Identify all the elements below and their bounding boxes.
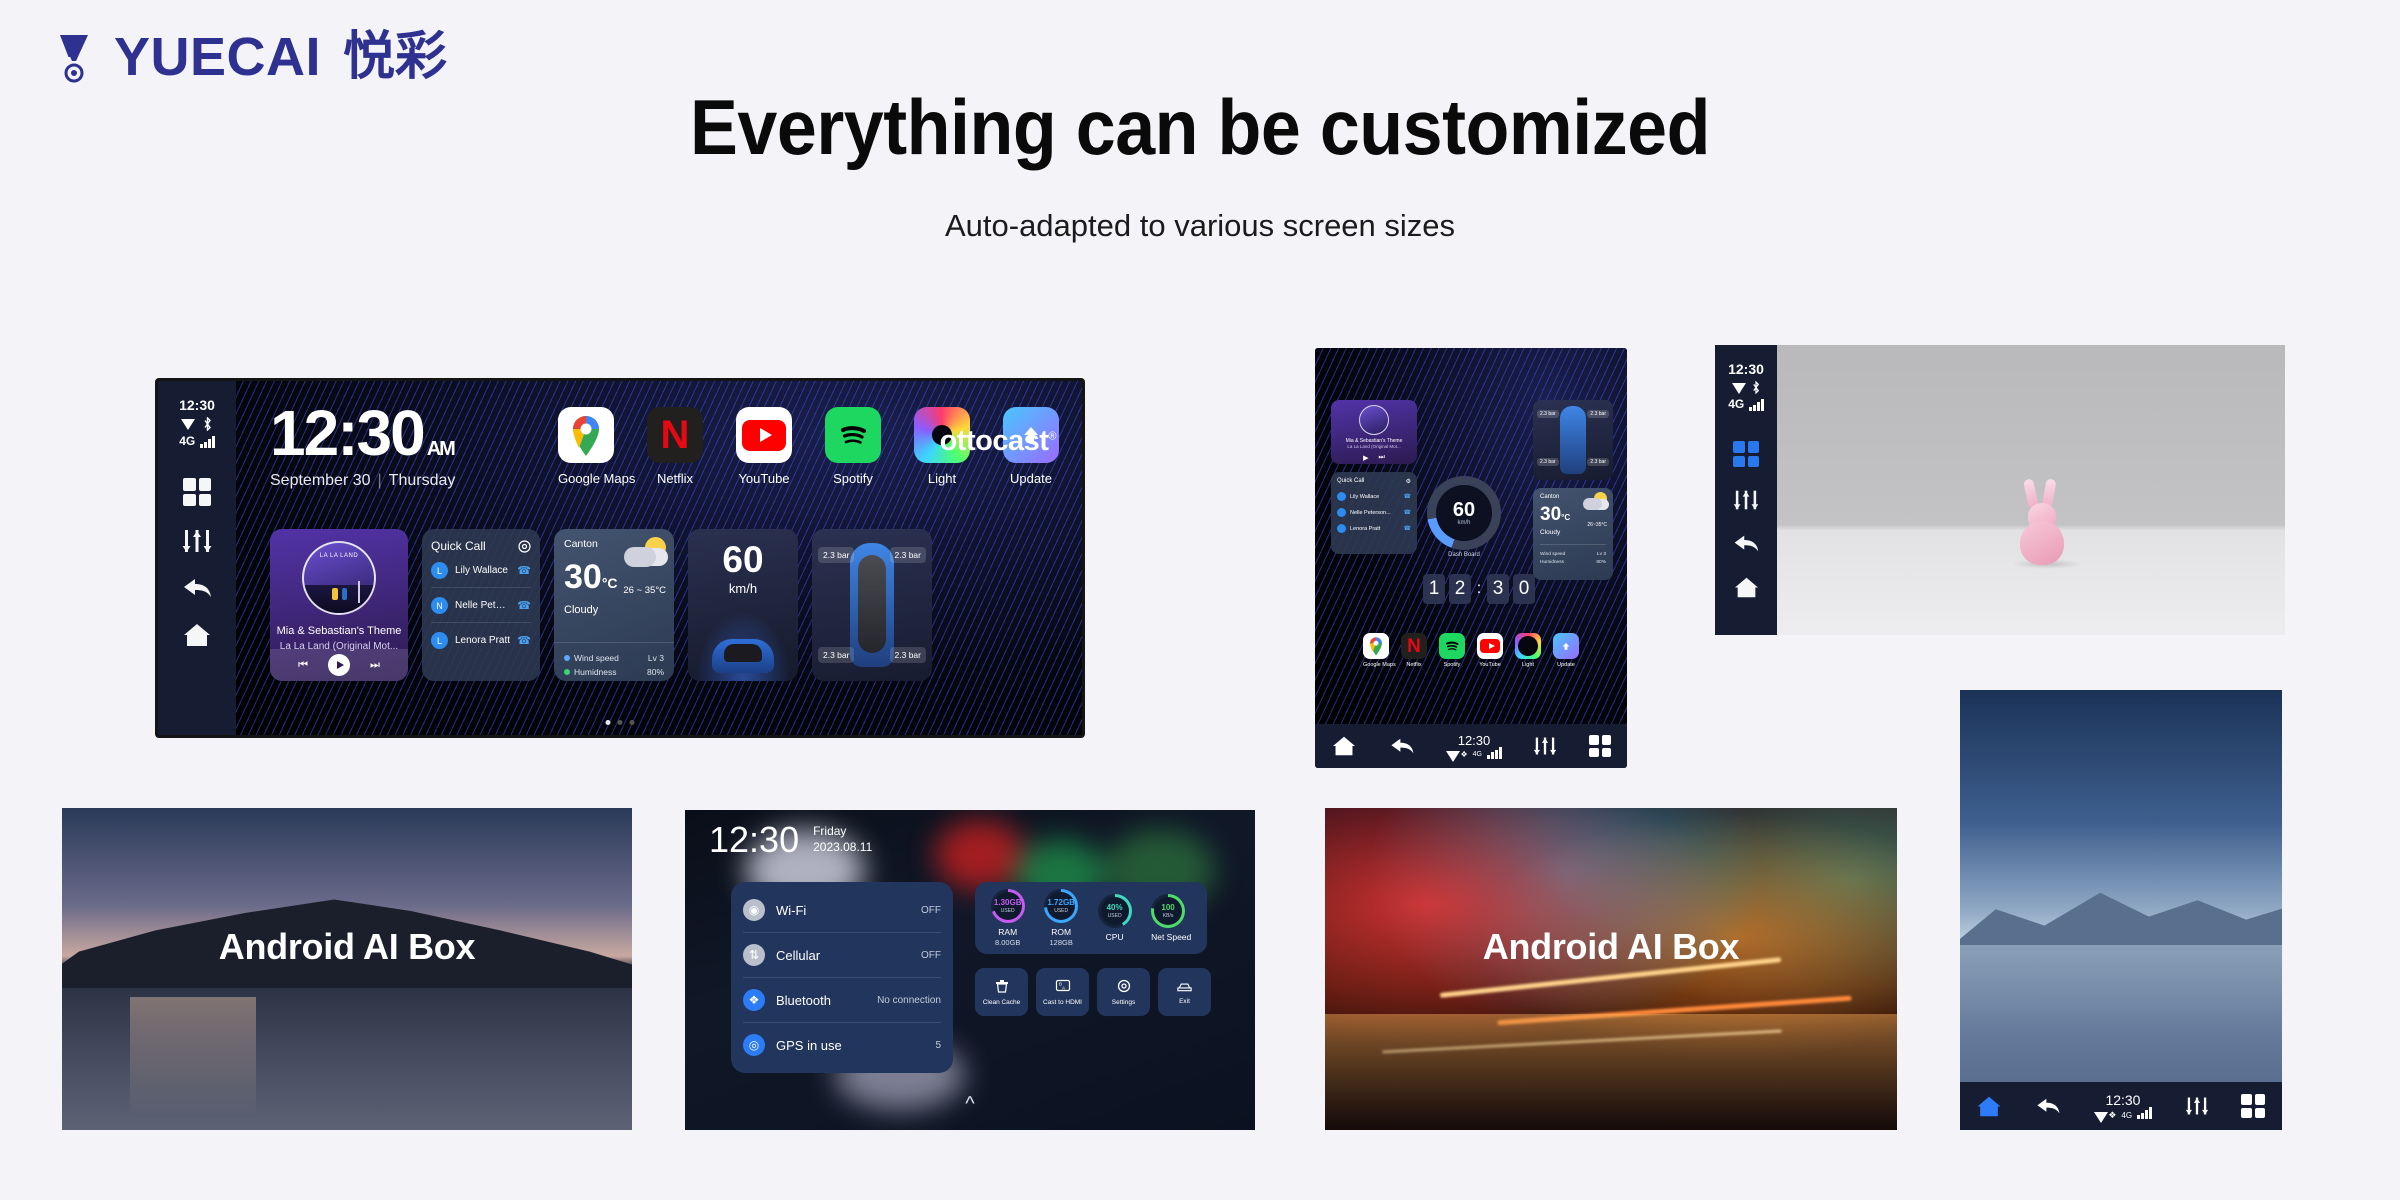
signal-bars-icon [1487, 751, 1502, 759]
clock-time: 12:30 [270, 397, 424, 469]
toggle-label: GPS in use [776, 1038, 924, 1053]
weather-range: 26 ~ 35°C [623, 585, 666, 596]
call-icon[interactable]: ☎ [1404, 525, 1411, 532]
system-stats-panel: 1.30GB USED RAM 8.00GB 1.72GB USED ROM 1… [975, 882, 1207, 954]
tire-fl: 2.3 bar [818, 547, 854, 563]
album-art [302, 541, 376, 615]
wind-label: Wind speed [574, 653, 619, 663]
bluetooth-icon: ❖ [1460, 750, 1467, 759]
chevron-up-icon[interactable]: ^ [965, 1093, 974, 1116]
flip-hour-2: 2 [1449, 574, 1471, 604]
call-icon[interactable]: ☎ [517, 564, 531, 577]
app-update[interactable]: Update [1553, 633, 1579, 668]
home-icon[interactable] [1734, 576, 1759, 599]
toggle-gps[interactable]: ◎ GPS in use 5 [743, 1023, 941, 1067]
origami-rabbit-image [2012, 481, 2070, 565]
contact-row[interactable]: L Lily Wallace ☎ [431, 553, 531, 588]
stat-detail: 8.00GB [991, 938, 1025, 947]
wifi-icon: ◉ [743, 899, 765, 921]
flip-min-2: 0 [1513, 574, 1535, 604]
contact-row[interactable]: Lenora Pratt☎ [1337, 524, 1411, 533]
app-youtube[interactable]: YouTube [1477, 633, 1503, 668]
gps-icon: ◎ [743, 1034, 765, 1056]
humidity-label: Humidness [1540, 560, 1564, 565]
stat-value: 1.72GB [1047, 898, 1075, 907]
tire-fl: 2.3 bar [1537, 410, 1559, 418]
app-label: YouTube [736, 471, 792, 486]
humidity-value: 80% [647, 667, 664, 677]
speed-unit: km/h [688, 581, 798, 596]
app-netflix[interactable]: N Netflix [1401, 633, 1427, 668]
weather-temp: 30 [564, 558, 602, 596]
toggle-value: OFF [921, 950, 941, 961]
banner-title: Android AI Box [62, 926, 632, 968]
stat-label: Net Speed [1151, 932, 1191, 942]
gear-icon [1116, 978, 1132, 994]
network-label: 4G [1728, 397, 1744, 411]
brand-logo: YUECAI 悦彩 [58, 30, 447, 84]
back-arrow-icon[interactable] [1732, 533, 1760, 554]
home-icon[interactable] [1976, 1095, 2002, 1118]
music-widget[interactable]: Mia & Sebastian's Theme La La Land (Orig… [270, 529, 408, 681]
tire-pressure-widget[interactable]: 2.3 bar 2.3 bar 2.3 bar 2.3 bar [1533, 400, 1613, 480]
clock-widget: 12:30 Friday 2023.08.11 [709, 822, 872, 858]
wifi-icon [2094, 1112, 2103, 1119]
app-netflix[interactable]: N Netflix [647, 407, 703, 486]
bluetooth-icon: ❖ [2108, 1110, 2116, 1121]
car-exit-icon [1176, 979, 1193, 993]
tire-rl: 2.3 bar [1537, 458, 1559, 466]
app-label: Light [914, 471, 970, 486]
clock-date: September 30 [270, 472, 371, 489]
tire-rr: 2.3 bar [1587, 458, 1609, 466]
humidity-icon [564, 669, 570, 675]
weather-temp: 30 [1540, 504, 1561, 525]
app-label: Spotify [1439, 662, 1465, 668]
weather-range: 26~35°C [1587, 522, 1607, 528]
call-icon[interactable]: ☎ [1404, 509, 1411, 516]
app-light[interactable]: Light [1515, 633, 1541, 668]
weather-unit: °C [602, 575, 618, 591]
quick-call-widget: Quick Call L Lily Wallace ☎ N Nelle Pete… [422, 529, 540, 681]
toggle-label: Cellular [776, 948, 910, 963]
play-button[interactable] [328, 654, 350, 676]
clock-time: 12:30 [709, 822, 799, 858]
bluetooth-icon: ❖ [743, 989, 765, 1011]
contact-row[interactable]: N Nelle Peterson... ☎ [431, 588, 531, 623]
wifi-icon [181, 419, 196, 430]
stat-detail: 128GB [1044, 938, 1078, 947]
netflix-icon: N [647, 407, 703, 463]
brand-name-cn: 悦彩 [343, 31, 447, 83]
toggle-value: 5 [935, 1040, 941, 1051]
home-icon[interactable] [1331, 735, 1357, 757]
tile-settings[interactable]: Settings [1097, 968, 1150, 1016]
stat-net-speed: 100 KB/s Net Speed [1151, 894, 1191, 943]
home-icon[interactable] [183, 622, 211, 648]
flip-clock: 1 2 : 3 0 [1423, 574, 1535, 604]
stat-label: RAM [991, 927, 1025, 937]
mountain-lake-photo [1960, 690, 2282, 1130]
nav-time: 12:30 [2094, 1092, 2151, 1108]
tile-cast-to-hdmi[interactable]: B A Cast to HDMI [1036, 968, 1089, 1016]
contact-name: Nelle Peterson... [455, 600, 510, 611]
stat-value: 40% [1107, 903, 1123, 912]
stat-unit: USED [1054, 908, 1068, 914]
toggle-wifi[interactable]: ◉ Wi-Fi OFF [743, 888, 941, 933]
status-network: 4G [179, 434, 215, 448]
back-arrow-icon[interactable] [181, 576, 213, 600]
tire-rr: 2.3 bar [890, 647, 926, 663]
signal-bars-icon [2137, 1111, 2152, 1119]
app-google-maps[interactable]: Google Maps [558, 407, 614, 486]
weather-condition: Cloudy [564, 604, 664, 616]
stat-ram: 1.30GB USED RAM 8.00GB [991, 889, 1025, 947]
status-time: 12:30 [1728, 361, 1764, 377]
prev-track-button[interactable]: ⏮ [298, 659, 308, 672]
cloudy-sun-icon [622, 537, 668, 571]
wind-value: Lv 3 [648, 653, 664, 663]
car-top-image [850, 543, 894, 667]
stat-unit: KB/s [1163, 913, 1174, 919]
stat-value: 1.30GB [994, 898, 1022, 907]
toggle-cellular[interactable]: ⇅ Cellular OFF [743, 933, 941, 978]
google-maps-icon [1363, 633, 1389, 659]
banner-title: Android AI Box [1325, 926, 1897, 968]
gauge-unit: km/h [1453, 520, 1475, 526]
call-icon[interactable]: ☎ [517, 634, 531, 647]
page-title: Everything can be customized [96, 82, 2304, 173]
nav-time: 12:30 [1446, 733, 1501, 748]
nav-bar: 12:30 ❖ 4G [1315, 724, 1627, 768]
wallpaper-photo [1777, 345, 2285, 635]
app-label: Netflix [647, 471, 703, 486]
status-time: 12:30 [179, 397, 215, 413]
stat-label: ROM [1044, 927, 1078, 937]
tire-fr: 2.3 bar [1587, 410, 1609, 418]
app-spotify[interactable]: Spotify [825, 407, 881, 486]
flip-hour-1: 1 [1423, 574, 1445, 604]
contact-name: Nelle Peterson... [1350, 510, 1400, 516]
page-subtitle: Auto-adapted to various screen sizes [0, 208, 2400, 244]
contact-name: Lenora Pratt [455, 635, 510, 646]
toggle-value: OFF [921, 905, 941, 916]
flip-colon: : [1475, 574, 1483, 604]
tile-label: Cast to HDMI [1043, 999, 1082, 1007]
equalizer-icon[interactable] [182, 528, 212, 554]
netflix-icon: N [1401, 633, 1427, 659]
next-track-button[interactable]: ⏭ [1379, 454, 1385, 462]
play-button[interactable]: ▶ [1363, 454, 1368, 462]
tile-clean-cache[interactable]: Clean Cache [975, 968, 1028, 1016]
call-icon[interactable]: ☎ [517, 599, 531, 612]
gauge-label: Dash Board [1427, 552, 1501, 558]
app-row: Google Maps N Netflix Spotify YouTube Li… [1315, 633, 1627, 668]
bluetooth-icon [1751, 381, 1761, 394]
youtube-icon [1477, 633, 1503, 659]
speed-widget[interactable]: 60 km/h [688, 529, 798, 681]
bluetooth-icon [202, 417, 213, 431]
music-title: Mia & Sebastian's Theme [270, 625, 408, 637]
equalizer-icon[interactable] [2185, 1096, 2209, 1116]
page-indicator[interactable] [606, 720, 635, 725]
clock-meridiem: AM [427, 438, 454, 460]
android-ai-box-banner-left: Android AI Box [62, 808, 632, 1130]
gauge-value: 60 [1453, 500, 1475, 520]
nav-bar: 12:30 ❖ 4G [1960, 1082, 2282, 1130]
network-label: 4G [2121, 1111, 2132, 1120]
humidity-label: Humidness [574, 667, 617, 677]
weather-widget[interactable]: Canton 30°C 26 ~ 35°C Cloudy Wind speed … [554, 529, 674, 681]
watermark-text: ottocast [940, 425, 1049, 457]
widget-row: Mia & Sebastian's Theme La La Land (Orig… [270, 529, 932, 681]
contact-row[interactable]: L Lenora Pratt ☎ [431, 623, 531, 657]
stat-cpu: 40% USED CPU [1098, 894, 1132, 943]
watermark-mark: ® [1048, 430, 1056, 442]
network-label: 4G [1473, 751, 1482, 758]
app-label: Spotify [825, 471, 881, 486]
wifi-icon [1446, 751, 1455, 758]
quick-call-widget: Quick Call⚙ Lily Wallace☎ Nelle Peterson… [1331, 472, 1417, 554]
app-label: Google Maps [1363, 662, 1389, 668]
apps-grid-icon[interactable] [1733, 441, 1759, 467]
app-label: Netflix [1401, 662, 1427, 668]
app-youtube[interactable]: YouTube [736, 407, 792, 486]
clock-weekday: Friday [813, 823, 872, 839]
tile-label: Clean Cache [983, 999, 1021, 1007]
back-arrow-icon[interactable] [2035, 1096, 2061, 1116]
youtube-icon [736, 407, 792, 463]
google-maps-icon [558, 407, 614, 463]
light-ring-icon [1515, 633, 1541, 659]
avatar: L [431, 562, 448, 579]
flip-min-1: 3 [1487, 574, 1509, 604]
neon-street-photo [1325, 808, 1897, 1130]
wind-value: Lv 3 [1597, 552, 1606, 557]
avatar: N [431, 597, 448, 614]
quick-call-title: Quick Call [1337, 478, 1364, 485]
gear-icon[interactable]: ⚙ [1406, 478, 1411, 485]
quick-call-title: Quick Call [431, 539, 486, 553]
music-controls: ⏮ ⏭ [270, 649, 408, 681]
stat-value: 100 [1161, 903, 1174, 912]
toggle-label: Bluetooth [776, 993, 866, 1008]
tile-label: Settings [1112, 999, 1136, 1007]
contact-row[interactable]: Nelle Peterson...☎ [1337, 508, 1411, 517]
brand-name: YUECAI [114, 30, 321, 84]
app-label: Update [1003, 471, 1059, 486]
network-label: 4G [179, 434, 195, 448]
toggle-bluetooth[interactable]: ❖ Bluetooth No connection [743, 978, 941, 1023]
app-spotify[interactable]: Spotify [1439, 633, 1465, 668]
tire-rl: 2.3 bar [818, 647, 854, 663]
wind-icon [564, 655, 570, 661]
cloudy-sun-icon [1581, 492, 1609, 512]
next-track-button[interactable]: ⏭ [370, 659, 380, 672]
contact-row[interactable]: Lily Wallace☎ [1337, 492, 1411, 501]
call-icon[interactable]: ☎ [1404, 493, 1411, 500]
status-icons [181, 417, 213, 431]
contact-name: Lily Wallace [455, 565, 510, 576]
tire-pressure-widget[interactable]: 2.3 bar 2.3 bar 2.3 bar 2.3 bar [812, 529, 932, 681]
sidebar: 12:30 4G [158, 381, 236, 735]
back-arrow-icon[interactable] [1389, 736, 1415, 756]
humidity-value: 80% [1596, 560, 1606, 565]
svg-text:A: A [1062, 985, 1065, 990]
toggle-value: No connection [877, 995, 941, 1006]
tablet-display: 12:30 4G [1715, 345, 2285, 635]
android-ai-box-banner-right: Android AI Box [1325, 808, 1897, 1130]
portrait-photo-display: 12:30 ❖ 4G [1960, 690, 2282, 1130]
clock-widget: 12:30AM September 30|Thursday [270, 403, 455, 490]
cloud-update-icon [1553, 633, 1579, 659]
portrait-car-display: Mia & Sebastian's Theme La La Land (Orig… [1315, 348, 1627, 768]
app-google-maps[interactable]: Google Maps [1363, 633, 1389, 668]
action-tiles: Clean Cache B A Cast to HDMI Settings Ex… [975, 968, 1211, 1016]
toggle-label: Wi-Fi [776, 903, 910, 918]
yuecai-mark-icon [58, 31, 104, 83]
gear-icon[interactable] [518, 540, 531, 553]
quick-toggles-panel: ◉ Wi-Fi OFF ⇅ Cellular OFF ❖ Bluetooth N… [731, 882, 953, 1073]
tire-fr: 2.3 bar [890, 547, 926, 563]
spotify-icon [1439, 633, 1465, 659]
equalizer-icon[interactable] [1733, 489, 1759, 511]
tile-exit[interactable]: Exit [1158, 968, 1211, 1016]
cellular-icon: ⇅ [743, 944, 765, 966]
tile-label: Exit [1179, 998, 1190, 1006]
weather-unit: °C [1561, 513, 1570, 522]
clock-weekday: Thursday [389, 472, 456, 489]
spotify-icon [825, 407, 881, 463]
stat-unit: USED [1001, 908, 1015, 914]
apps-grid-icon[interactable] [183, 478, 211, 506]
stat-rom: 1.72GB USED ROM 128GB [1044, 889, 1078, 947]
weather-details: Wind speed Lv 3 Humidness 80% [554, 642, 674, 677]
music-subtitle: La La Land (Original Mot... [1331, 444, 1417, 449]
album-art [1359, 405, 1389, 435]
stat-label: CPU [1098, 932, 1132, 942]
wind-label: Wind speed [1540, 552, 1565, 557]
weather-condition: Cloudy [1540, 529, 1606, 536]
clock-date: 2023.08.11 [813, 839, 872, 855]
car-rear-image [712, 639, 774, 673]
stat-unit: USED [1108, 913, 1122, 919]
app-label: Light [1515, 662, 1541, 668]
contact-name: Lily Wallace [1350, 494, 1400, 500]
apps-grid-icon[interactable] [1589, 735, 1611, 757]
signal-bars-icon [200, 436, 215, 448]
cast-icon: B A [1055, 978, 1071, 994]
app-label: Google Maps [558, 471, 614, 486]
music-widget[interactable]: Mia & Sebastian's Theme La La Land (Orig… [1331, 400, 1417, 464]
dashboard-gauge[interactable]: 60 km/h [1427, 476, 1501, 550]
speed-value: 60 [688, 541, 798, 578]
sidebar: 12:30 4G [1715, 345, 1777, 635]
apps-grid-icon[interactable] [2241, 1094, 2265, 1118]
settings-panel-display: 12:30 Friday 2023.08.11 ◉ Wi-Fi OFF ⇅ Ce… [685, 810, 1255, 1130]
app-label: Update [1553, 662, 1579, 668]
trash-icon [994, 978, 1010, 994]
avatar: L [431, 632, 448, 649]
contact-name: Lenora Pratt [1350, 526, 1400, 532]
mountain-lake-photo [62, 808, 632, 1130]
app-label: YouTube [1477, 662, 1503, 668]
signal-bars-icon [1749, 399, 1764, 411]
weather-widget[interactable]: Canton 30°C 26~35°C Cloudy Wind speedLv … [1533, 488, 1613, 580]
main-car-display: 12:30 4G 12:30AM September 30 [155, 378, 1085, 738]
equalizer-icon[interactable] [1533, 736, 1557, 756]
ottocast-watermark: ottocast® [940, 425, 1056, 458]
wifi-icon [1732, 383, 1745, 393]
